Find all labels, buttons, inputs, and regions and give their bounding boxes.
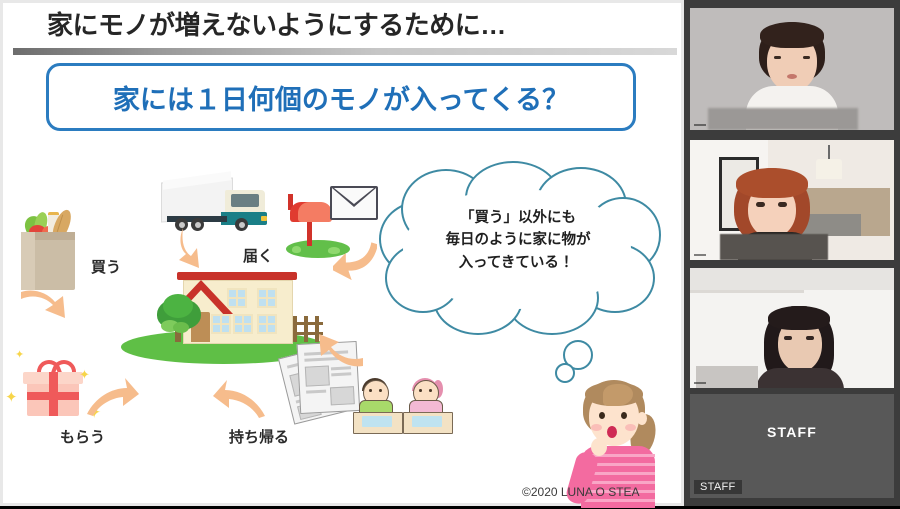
arrow-up-left-icon — [211, 376, 267, 420]
screen-root: 家にモノが増えないようにするために… 家には１日何個のモノが入ってくる？ 買う — [0, 0, 900, 506]
thought-cloud-text: 「買う」以外にも 毎日のように家に物が 入ってきている ！ — [409, 207, 627, 274]
video-tile-2[interactable] — [690, 140, 894, 260]
students-at-desks-icon — [353, 378, 458, 440]
gift-box-icon — [21, 360, 83, 418]
arrow-right-icon — [19, 286, 73, 326]
participant-name-badge: STAFF — [694, 480, 742, 494]
participant-name-badge — [694, 382, 706, 384]
video-participants-strip: STAFF STAFF — [684, 0, 900, 506]
slide-title: 家にモノが増えないようにするために… — [47, 7, 647, 43]
title-divider — [13, 48, 677, 55]
label-bring-home: 持ち帰る — [229, 426, 289, 447]
arrow-down-left-icon — [333, 234, 377, 280]
thought-cloud: 「買う」以外にも 毎日のように家に物が 入ってきている ！ — [379, 165, 657, 337]
participant-name-badge — [694, 254, 706, 256]
shared-slide: 家にモノが増えないようにするために… 家には１日何個のモノが入ってくる？ 買う — [0, 0, 684, 506]
grocery-bag-icon — [17, 210, 79, 290]
question-text: 家には１日何個のモノが入ってくる？ — [49, 66, 633, 128]
envelope-icon — [330, 186, 378, 220]
illustration-canvas: 買う 届く — [3, 138, 687, 509]
copyright-text: ©2020 LUNA O STEA — [522, 485, 640, 499]
video-tile-1[interactable] — [690, 8, 894, 130]
label-buy: 買う — [91, 256, 121, 277]
video-tile-3[interactable] — [690, 268, 894, 388]
arrow-up-right-icon — [85, 374, 139, 418]
slide-canvas: 家にモノが増えないようにするために… 家には１日何個のモノが入ってくる？ 買う — [3, 3, 681, 503]
thought-bubble-small — [555, 363, 575, 383]
label-receive: もらう — [60, 426, 105, 447]
video-tile-4-staff[interactable]: STAFF STAFF — [690, 394, 894, 498]
participant-name-badge — [694, 124, 706, 126]
question-box: 家には１日何個のモノが入ってくる？ — [46, 63, 636, 131]
staff-center-label: STAFF — [690, 424, 894, 440]
arrow-down-icon — [175, 226, 209, 270]
arrow-left-icon — [315, 328, 367, 374]
